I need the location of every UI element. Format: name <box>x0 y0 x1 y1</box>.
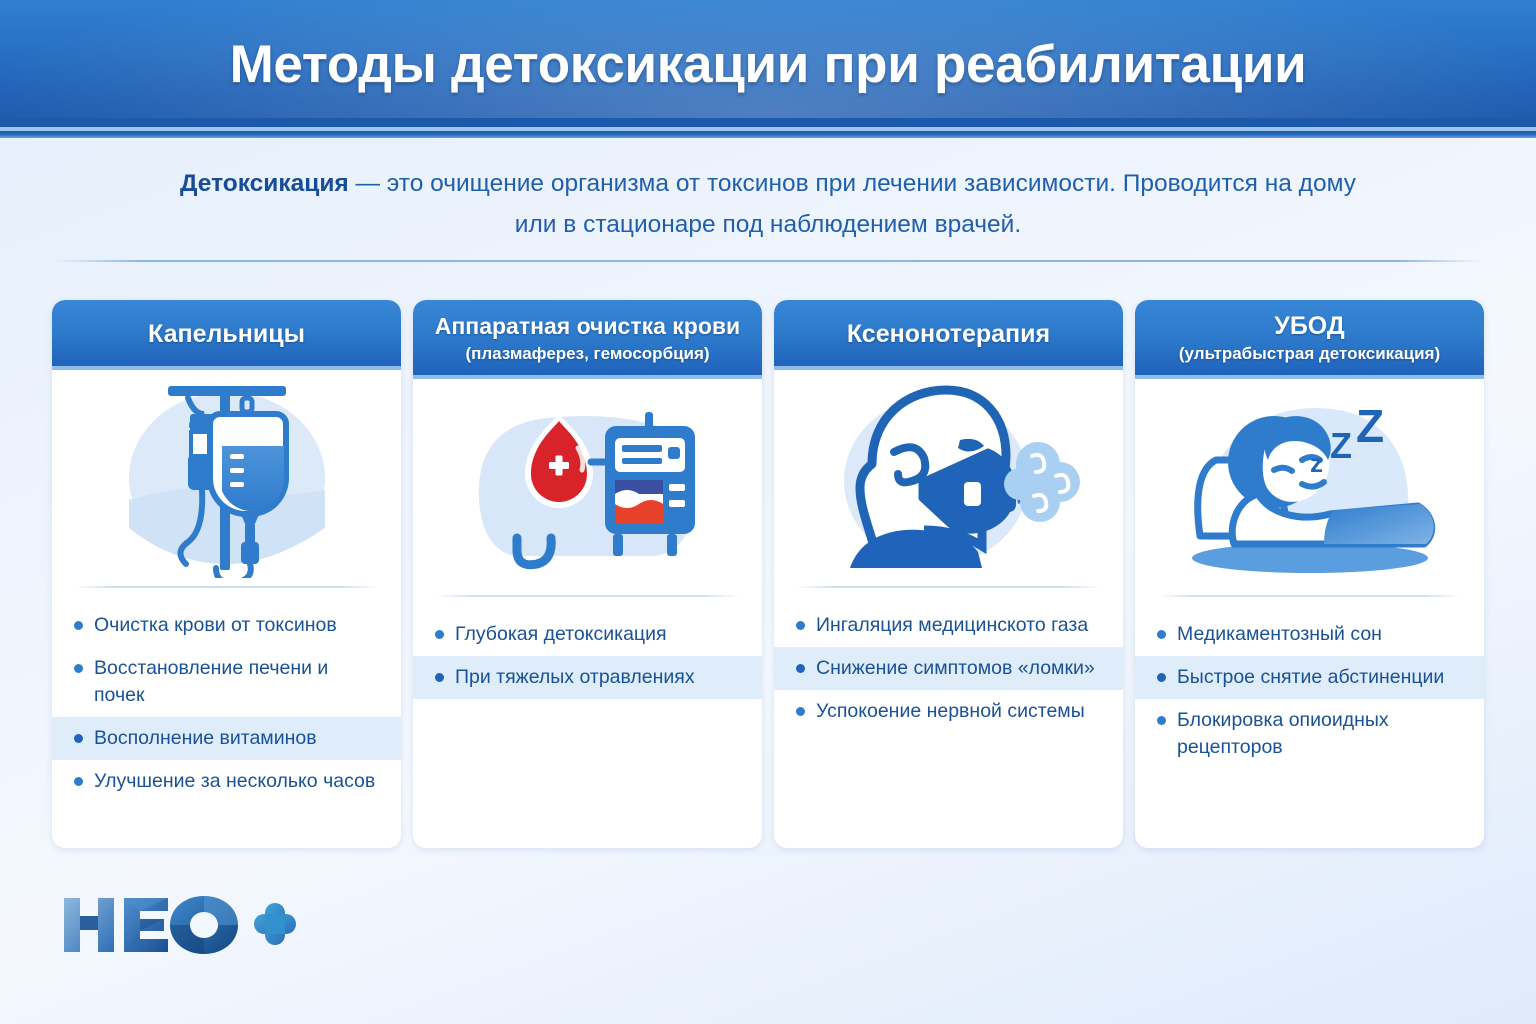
list-item-label: Улучшение за несколько часов <box>94 768 383 795</box>
method-cards-row: Капельницы <box>52 300 1484 848</box>
list-item-label: Быстрое снятие абстиненции <box>1177 664 1466 691</box>
card-drip-title: Капельницы <box>148 319 305 349</box>
card-xenon-therapy-header: Ксенонотерапия <box>774 300 1123 370</box>
card-blood-purification-header: Аппаратная очистка крови (плазмаферез, г… <box>413 300 762 379</box>
list-item[interactable]: Глубокая детоксикация <box>413 613 762 656</box>
list-item[interactable]: Быстрое снятие абстиненции <box>1135 656 1484 699</box>
list-item-label: Медикаментозный сон <box>1177 621 1466 648</box>
card-ubod[interactable]: УБОД (ультрабыстрая детоксикация) <box>1135 300 1484 848</box>
list-item[interactable]: Снижение симптомов «ломки» <box>774 647 1123 690</box>
bullet-dot-icon <box>74 664 83 673</box>
card-ubod-header: УБОД (ультрабыстрая детоксикация) <box>1135 300 1484 379</box>
list-item-label: Блокировка опиоидных рецепторов <box>1177 707 1466 761</box>
intro-lead-word: Детоксикация <box>180 170 349 197</box>
list-item-label: Восстановление печени и почек <box>94 655 383 709</box>
card-blood-purification[interactable]: Аппаратная очистка крови (плазмаферез, г… <box>413 300 762 848</box>
header-band: Методы детоксикации при реабилитации <box>0 0 1536 131</box>
svg-text:Z: Z <box>1330 425 1352 466</box>
list-item-label: Ингаляция медицинското газа <box>816 612 1105 639</box>
bullet-dot-icon <box>1157 716 1166 725</box>
card-drip-header: Капельницы <box>52 300 401 370</box>
bullet-dot-icon <box>1157 630 1166 639</box>
list-item[interactable]: Очистка крови от токсинов <box>52 604 401 647</box>
list-item[interactable]: Успокоение нервной системы <box>774 690 1123 733</box>
card-drip[interactable]: Капельницы <box>52 300 401 848</box>
bullet-dot-icon <box>74 621 83 630</box>
gas-mask-inhalation-icon <box>774 370 1123 586</box>
list-item[interactable]: При тяжелых отравлениях <box>413 656 762 699</box>
card-drip-list: Очистка крови от токсинов Восстановление… <box>52 588 401 848</box>
card-ubod-list: Медикаментозный сон Быстрое снятие абсти… <box>1135 597 1484 848</box>
list-item-label: Очистка крови от токсинов <box>94 612 383 639</box>
brand-logo[interactable] <box>58 890 298 962</box>
card-blood-purification-subtitle: (плазмаферез, гемосорбция) <box>465 342 709 366</box>
card-xenon-therapy-list: Ингаляция медицинското газа Снижение сим… <box>774 588 1123 848</box>
card-xenon-therapy-title: Ксенонотерапия <box>847 319 1050 349</box>
list-item-label: Снижение симптомов «ломки» <box>816 655 1105 682</box>
bullet-dot-icon <box>74 777 83 786</box>
blood-purification-machine-icon <box>413 379 762 595</box>
sleeping-patient-icon: z Z Z <box>1135 379 1484 595</box>
list-item-label: Глубокая детоксикация <box>455 621 744 648</box>
list-item[interactable]: Улучшение за несколько часов <box>52 760 401 803</box>
list-item[interactable]: Восполнение витаминов <box>52 717 401 760</box>
list-item[interactable]: Ингаляция медицинското газа <box>774 604 1123 647</box>
card-blood-purification-list: Глубокая детоксикация При тяжелых отравл… <box>413 597 762 848</box>
svg-text:z: z <box>1310 448 1323 478</box>
list-item-label: Успокоение нервной системы <box>816 698 1105 725</box>
infographic-poster: Методы детоксикации при реабилитации Дет… <box>0 0 1536 1024</box>
bullet-dot-icon <box>796 664 805 673</box>
bullet-dot-icon <box>796 621 805 630</box>
bullet-dot-icon <box>435 630 444 639</box>
card-ubod-subtitle: (ультрабыстрая детоксикация) <box>1179 342 1440 366</box>
list-item[interactable]: Медикаментозный сон <box>1135 613 1484 656</box>
section-divider <box>55 260 1482 262</box>
card-xenon-therapy[interactable]: Ксенонотерапия <box>774 300 1123 848</box>
list-item[interactable]: Восстановление печени и почек <box>52 647 401 717</box>
bullet-dot-icon <box>435 673 444 682</box>
list-item-label: При тяжелых отравлениях <box>455 664 744 691</box>
bullet-dot-icon <box>74 734 83 743</box>
intro-paragraph: Детоксикация — это очищение организма от… <box>170 163 1366 245</box>
card-ubod-title: УБОД <box>1274 311 1344 341</box>
header-underline <box>0 131 1536 138</box>
page-title: Методы детоксикации при реабилитации <box>0 34 1536 95</box>
list-item-label: Восполнение витаминов <box>94 725 383 752</box>
svg-text:Z: Z <box>1356 400 1384 452</box>
card-blood-purification-title: Аппаратная очистка крови <box>435 311 740 341</box>
intro-rest-text: — это очищение организма от токсинов при… <box>349 170 1356 238</box>
list-item[interactable]: Блокировка опиоидных рецепторов <box>1135 699 1484 769</box>
bullet-dot-icon <box>1157 673 1166 682</box>
iv-drip-icon <box>52 370 401 586</box>
bullet-dot-icon <box>796 707 805 716</box>
